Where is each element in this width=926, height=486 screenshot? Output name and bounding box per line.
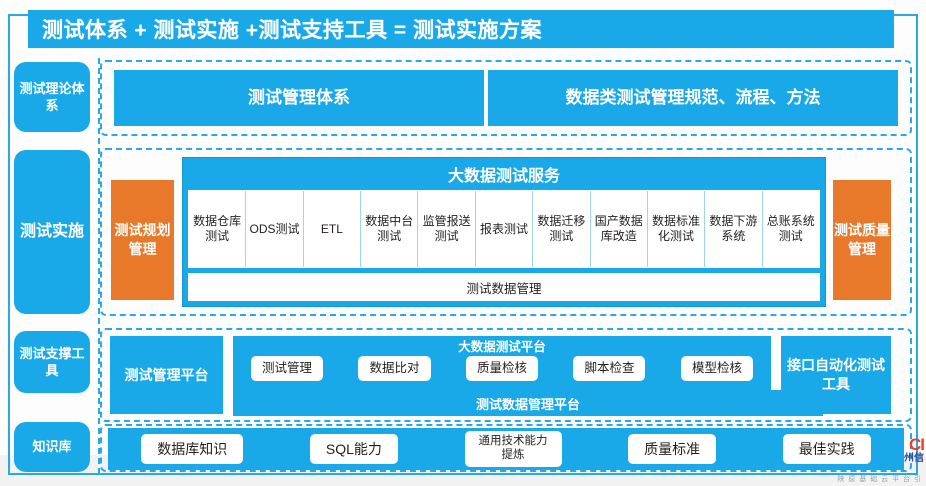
test-data-management-bar[interactable]: 测试数据管理 (188, 273, 820, 301)
service-cell[interactable]: ODS测试 (246, 191, 303, 267)
theory-block-data-spec[interactable]: 数据类测试管理规范、流程、方法 (488, 70, 898, 126)
page-title: 测试体系 + 测试实施 +测试支持工具 = 测试实施方案 (28, 14, 542, 44)
tools-interface-automation[interactable]: 接口自动化测试工具 (781, 336, 891, 414)
service-cell[interactable]: 总账系统测试 (763, 191, 819, 267)
tools-block-label: 接口自动化测试工具 (781, 356, 891, 394)
platform-chip[interactable]: 脚本检查 (573, 356, 645, 381)
watermark-tagline: 陕 原 基 础 云 平 台 引 (837, 474, 922, 484)
service-cell[interactable]: ETL (304, 191, 361, 267)
theory-block-label: 测试管理体系 (248, 87, 350, 109)
service-cell-list: 数据仓库测试 ODS测试 ETL 数据中台测试 监管报送测试 报表测试 数据迁移… (188, 190, 820, 268)
theory-block-management-system[interactable]: 测试管理体系 (114, 70, 484, 126)
knowledge-chip[interactable]: 通用技术能力 提炼 (465, 431, 562, 467)
sidebar-item-label: 测试理论体系 (14, 80, 90, 114)
sidebar-item-label: 测试实施 (20, 221, 84, 242)
knowledge-chip-line1: 通用技术能力 (479, 435, 548, 447)
sidebar-item-execution[interactable]: 测试实施 (14, 150, 90, 314)
knowledge-base-bar: 数据库知识 SQL能力 通用技术能力 提炼 质量标准 最佳实践 (108, 428, 904, 470)
service-cell[interactable]: 报表测试 (476, 191, 533, 267)
sidebar-item-label: 测试支撑工具 (14, 345, 90, 379)
platform-chip[interactable]: 模型检核 (681, 356, 753, 381)
orange-block-label: 测试规划管理 (112, 221, 173, 259)
service-cell[interactable]: 数据仓库测试 (189, 191, 246, 267)
platform-chip[interactable]: 测试管理 (251, 356, 323, 381)
theory-block-label: 数据类测试管理规范、流程、方法 (566, 87, 821, 109)
tools-block-label: 测试管理平台 (125, 366, 209, 385)
tools-test-management-platform[interactable]: 测试管理平台 (110, 336, 223, 414)
execution-right-quality-management[interactable]: 测试质量管理 (833, 180, 891, 300)
platform-chip-list: 测试管理 数据比对 质量检核 脚本检查 模型检核 (233, 354, 771, 381)
knowledge-chip[interactable]: 最佳实践 (783, 434, 871, 465)
platform-chip[interactable]: 数据比对 (358, 356, 430, 381)
slide-canvas: 测试体系 + 测试实施 +测试支持工具 = 测试实施方案 测试理论体系 测试实施… (0, 0, 926, 486)
service-cell[interactable]: 国产数据库改造 (591, 191, 648, 267)
service-cell[interactable]: 监管报送测试 (418, 191, 475, 267)
sidebar-item-knowledge-base[interactable]: 知识库 (14, 422, 90, 472)
sidebar-item-label: 知识库 (32, 438, 71, 455)
big-data-test-service-card: 大数据测试服务 数据仓库测试 ODS测试 ETL 数据中台测试 监管报送测试 报… (182, 157, 826, 307)
title-banner: 测试体系 + 测试实施 +测试支持工具 = 测试实施方案 (28, 10, 894, 48)
knowledge-chip[interactable]: 数据库知识 (141, 434, 243, 465)
platform-title: 大数据测试平台 (233, 336, 771, 354)
platform-chip[interactable]: 质量检核 (466, 356, 538, 381)
knowledge-chip-line2: 提炼 (502, 449, 525, 461)
service-cell[interactable]: 数据迁移测试 (533, 191, 590, 267)
sidebar-item-support-tools[interactable]: 测试支撑工具 (14, 331, 90, 393)
knowledge-chip[interactable]: 质量标准 (628, 434, 716, 465)
card-title: 大数据测试服务 (183, 158, 825, 190)
big-data-test-platform-card: 大数据测试平台 测试管理 数据比对 质量检核 脚本检查 模型检核 (233, 336, 771, 398)
execution-left-planning-management[interactable]: 测试规划管理 (111, 180, 174, 300)
service-cell[interactable]: 数据下游系统 (705, 191, 762, 267)
service-cell[interactable]: 数据中台测试 (361, 191, 418, 267)
sidebar-item-theory[interactable]: 测试理论体系 (14, 62, 90, 132)
orange-block-label: 测试质量管理 (834, 221, 890, 259)
service-cell[interactable]: 数据标准化测试 (648, 191, 705, 267)
knowledge-chip[interactable]: SQL能力 (310, 434, 398, 465)
